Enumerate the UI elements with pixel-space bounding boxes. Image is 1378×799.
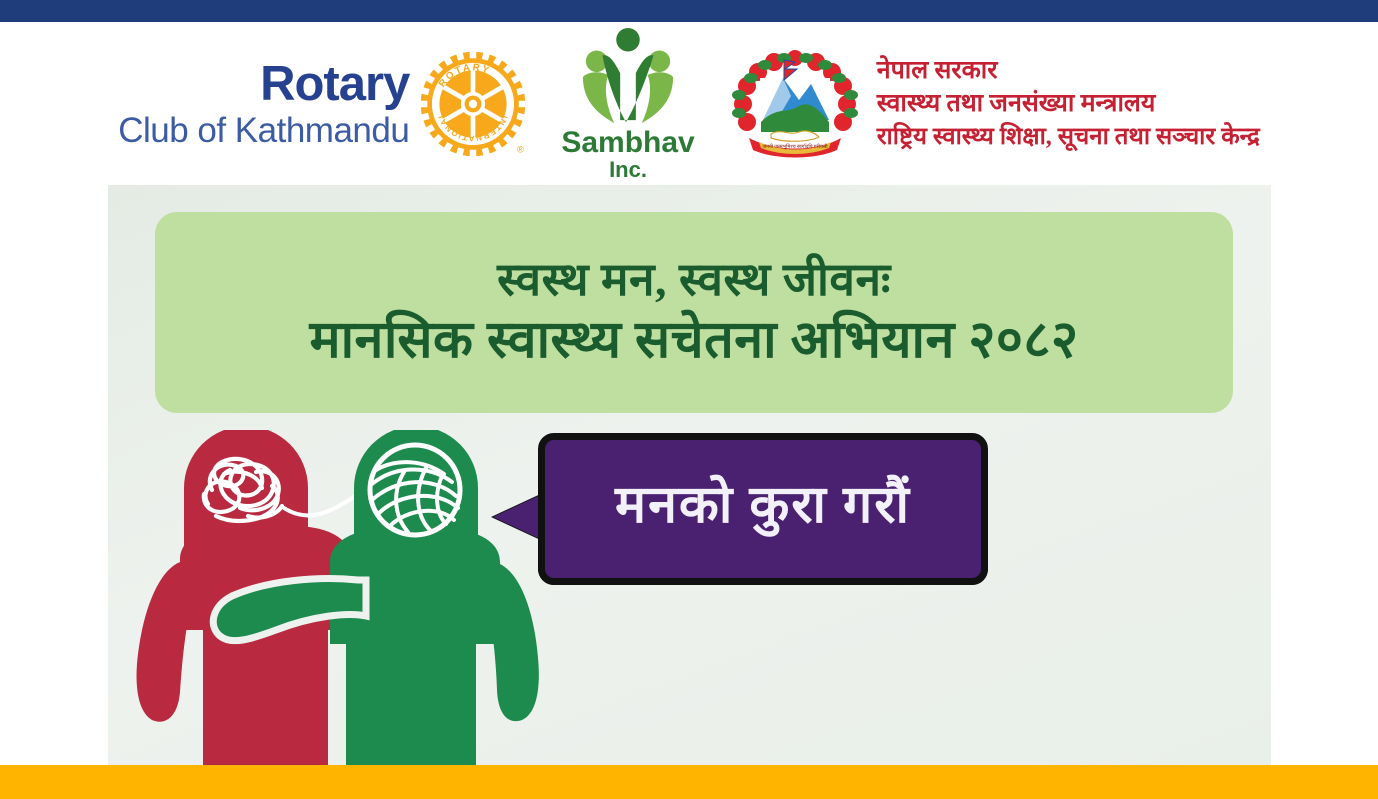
sambhav-people-icon xyxy=(569,26,687,126)
campaign-title-line-2: मानसिक स्वास्थ्य सचेतना अभियान २०८२ xyxy=(309,314,1078,369)
bottom-accent-bar xyxy=(0,765,1378,799)
sambhav-name: Sambhav xyxy=(561,128,694,158)
sambhav-logo: Sambhav Inc. xyxy=(561,26,694,181)
speech-bubble: मनको कुरा गरौं xyxy=(493,433,953,598)
campaign-title-line-1: स्वस्थ मन, स्वस्थ जीवनः xyxy=(497,256,891,304)
rotary-wordmark: Rotary Club of Kathmandu xyxy=(118,60,409,148)
rotary-club-logo: Rotary Club of Kathmandu xyxy=(118,48,529,160)
registered-mark-icon: ® xyxy=(517,144,524,154)
campaign-title-banner: स्वस्थ मन, स्वस्थ जीवनः मानसिक स्वास्थ्य… xyxy=(155,212,1233,413)
header-logo-strip: Rotary Club of Kathmandu xyxy=(0,22,1378,185)
rotary-title: Rotary xyxy=(260,60,409,109)
poster-slide: Rotary Club of Kathmandu xyxy=(0,0,1378,799)
nepal-government-logo: जननी जन्मभूमिश्च स्वर्गादपि गरीयसी नेपाल… xyxy=(725,38,1260,170)
nepal-emblem-icon: जननी जन्मभूमिश्च स्वर्गादपि गरीयसी xyxy=(725,38,865,170)
speech-bubble-body: मनको कुरा गरौं xyxy=(538,433,988,585)
speech-bubble-text: मनको कुरा गरौं xyxy=(615,467,911,538)
svg-text:जननी जन्मभूमिश्च स्वर्गादपि गर: जननी जन्मभूमिश्च स्वर्गादपि गरीयसी xyxy=(762,143,828,150)
rotary-subtitle: Club of Kathmandu xyxy=(118,113,409,148)
nepal-gov-line-3: राष्ट्रिय स्वास्थ्य शिक्षा, सूचना तथा सञ… xyxy=(877,123,1260,151)
nepal-government-text: नेपाल सरकार स्वास्थ्य तथा जनसंख्या मन्त्… xyxy=(877,56,1260,151)
rotary-wheel-icon: ROTARY INTERNATIONAL ® xyxy=(417,48,529,160)
sambhav-suffix: Inc. xyxy=(609,159,647,181)
nepal-gov-line-2: स्वास्थ्य तथा जनसंख्या मन्त्रालय xyxy=(877,89,1260,119)
campaign-content-card: स्वस्थ मन, स्वस्थ जीवनः मानसिक स्वास्थ्य… xyxy=(108,185,1271,765)
top-accent-bar xyxy=(0,0,1378,22)
nepal-gov-line-1: नेपाल सरकार xyxy=(877,56,1260,86)
